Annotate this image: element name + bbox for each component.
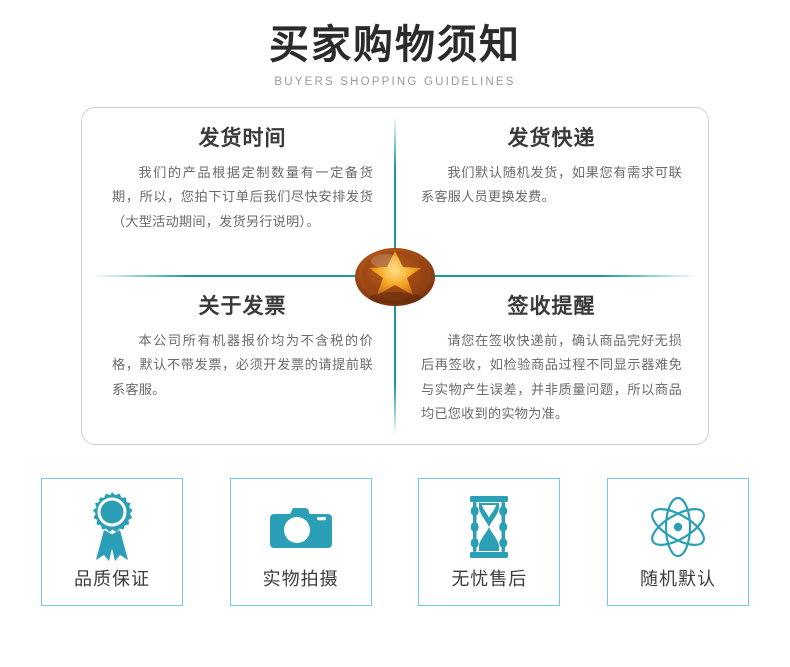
quadrant-title: 发货快递 bbox=[421, 122, 682, 152]
quadrant-shipping-courier: 发货快递 我们默认随机发货，如果您有需求可联系客服人员更换发费。 bbox=[395, 108, 708, 276]
quadrant-title: 发货时间 bbox=[112, 122, 373, 152]
quadrant-shipping-time: 发货时间 我们的产品根据定制数量有一定备货期，所以，您拍下订单后我们尽快安排发货… bbox=[82, 108, 395, 276]
page-title: 买家购物须知 bbox=[0, 22, 790, 69]
quadrant-title: 关于发票 bbox=[112, 290, 373, 320]
quadrant-receipt-reminder: 签收提醒 请您在签收快递前，确认商品完好无损后再签收，如检验商品过程不同显示器难… bbox=[395, 276, 708, 444]
badge-label: 实物拍摄 bbox=[263, 565, 339, 591]
badge-real-photos[interactable]: 实物拍摄 bbox=[230, 478, 372, 606]
badge-worry-free-service[interactable]: 无忧售后 bbox=[418, 478, 560, 606]
quadrant-about-invoice: 关于发票 本公司所有机器报价均为不含税的价格，默认不带发票，必须开发票的请提前联… bbox=[82, 276, 395, 444]
quadrant-title: 签收提醒 bbox=[421, 290, 682, 320]
quadrant-body: 我们的产品根据定制数量有一定备货期，所以，您拍下订单后我们尽快安排发货（大型活动… bbox=[112, 161, 373, 234]
quadrant-body: 我们默认随机发货，如果您有需求可联系客服人员更换发费。 bbox=[421, 161, 682, 210]
badge-label: 随机默认 bbox=[640, 565, 716, 591]
rosette-award-icon bbox=[84, 491, 140, 563]
badge-label: 无忧售后 bbox=[451, 565, 527, 591]
badge-label: 品质保证 bbox=[74, 565, 150, 591]
badge-random-default[interactable]: 随机默认 bbox=[607, 478, 749, 606]
quadrant-body: 请您在签收快递前，确认商品完好无损后再签收，如检验商品过程不同显示器难免与实物产… bbox=[421, 329, 682, 427]
hourglass-icon bbox=[463, 491, 515, 563]
atom-icon bbox=[646, 491, 710, 563]
roasted-chestnut-image bbox=[353, 243, 437, 309]
trust-badge-row: 品质保证 实物拍摄 bbox=[41, 478, 749, 606]
quadrant-body: 本公司所有机器报价均为不含税的价格，默认不带发票，必须开发票的请提前联系客服。 bbox=[112, 329, 373, 402]
page-subtitle: BUYERS SHOPPING GUIDELINES bbox=[0, 76, 790, 88]
camera-icon bbox=[270, 491, 332, 563]
page-header: 买家购物须知 BUYERS SHOPPING GUIDELINES bbox=[0, 0, 790, 88]
badge-quality-guarantee[interactable]: 品质保证 bbox=[41, 478, 183, 606]
guidelines-panel: 发货时间 我们的产品根据定制数量有一定备货期，所以，您拍下订单后我们尽快安排发货… bbox=[81, 107, 709, 445]
